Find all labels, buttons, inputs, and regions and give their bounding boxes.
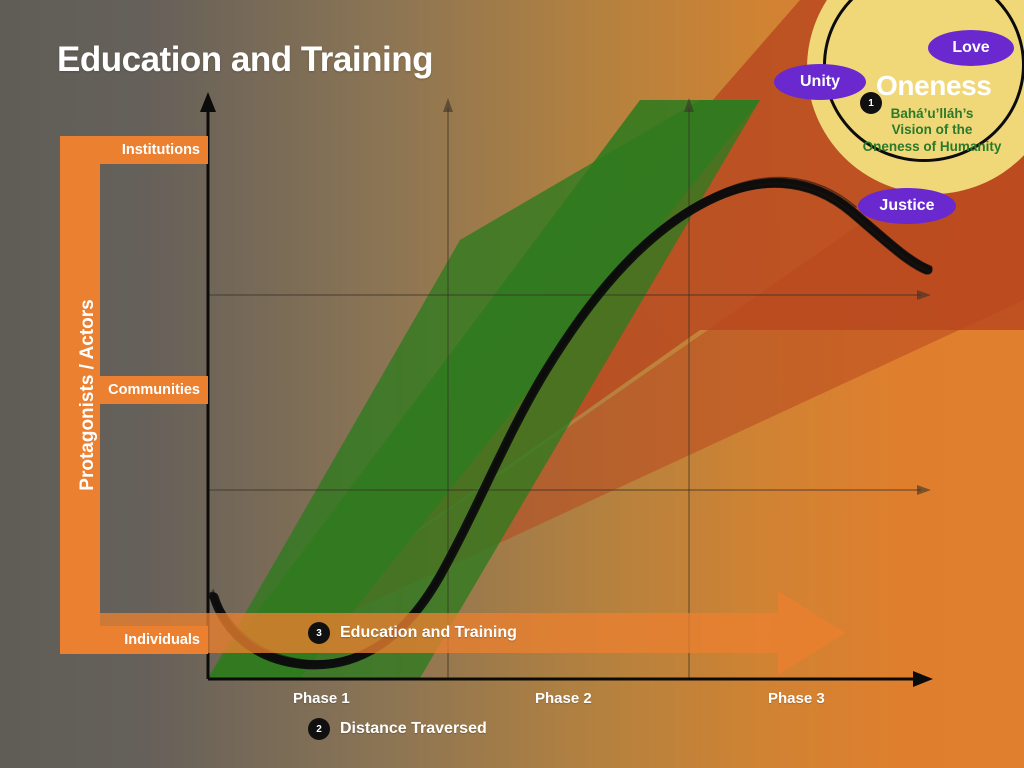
protagonists-actors-axis: Institutions Communities Individuals Pro… [60, 136, 208, 654]
page-title: Education and Training [57, 40, 433, 80]
oneness-pill-unity[interactable]: Unity [774, 64, 866, 100]
annotation-badge-2: 2 [308, 718, 330, 740]
oneness-subtitle-line-3: Oneness of Humanity [844, 139, 1020, 155]
x-axis-label-phase-2: Phase 2 [535, 690, 592, 707]
annotation-label-distance-traversed: Distance Traversed [340, 720, 487, 738]
oneness-title: Oneness [876, 70, 991, 102]
annotation-label-education-and-training: Education and Training [340, 624, 517, 642]
oneness-pill-love[interactable]: Love [928, 30, 1014, 66]
annotation-badge-3: 3 [308, 622, 330, 644]
oneness-subtitle: Bahá’u’lláh’s Vision of the Oneness of H… [844, 106, 1020, 155]
slide-canvas: Institutions Communities Individuals Pro… [0, 0, 1024, 768]
oneness-subtitle-line-1: Bahá’u’lláh’s [844, 106, 1020, 122]
oneness-pill-justice[interactable]: Justice [858, 188, 956, 224]
axis-band-institutions[interactable]: Institutions [60, 136, 208, 164]
axis-band-label-communities: Communities [108, 382, 200, 398]
axis-band-label-institutions: Institutions [122, 142, 200, 158]
axis-band-individuals[interactable]: Individuals [60, 626, 208, 654]
x-axis-label-phase-3: Phase 3 [768, 690, 825, 707]
axis-band-communities[interactable]: Communities [60, 376, 208, 404]
oneness-diagram: 1 Oneness Bahá’u’lláh’s Vision of the On… [760, 0, 1024, 242]
axis-band-label-individuals: Individuals [124, 632, 200, 648]
annotation-education-and-training[interactable]: 3 Education and Training [308, 622, 517, 644]
oneness-subtitle-line-2: Vision of the [844, 122, 1020, 138]
annotation-distance-traversed[interactable]: 2 Distance Traversed [308, 718, 487, 740]
x-axis-label-phase-1: Phase 1 [293, 690, 350, 707]
